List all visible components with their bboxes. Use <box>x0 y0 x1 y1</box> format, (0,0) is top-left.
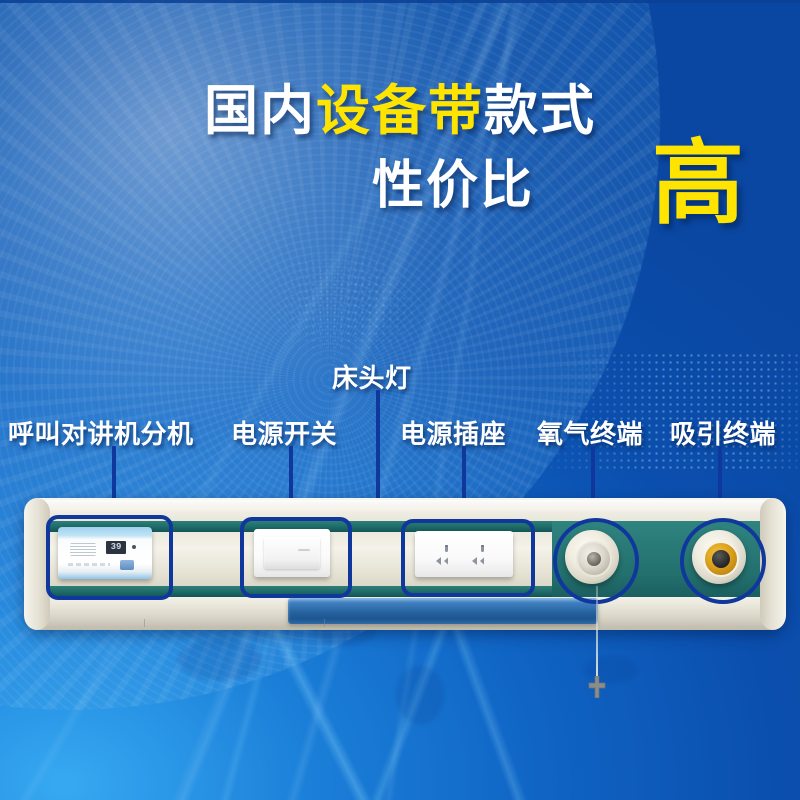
headline-part-1: 国内 <box>204 81 316 141</box>
halftone-dots-left <box>268 246 428 366</box>
highlight-frame-intercom <box>46 515 173 600</box>
halftone-dots-right <box>548 352 800 472</box>
headline-part-3: 款式 <box>484 81 596 141</box>
callout-label-power-socket: 电源插座 <box>400 414 506 451</box>
callout-label-power-switch: 电源开关 <box>231 414 337 451</box>
callout-label-oxygen: 氧气终端 <box>537 414 643 451</box>
cord-connector-icon <box>587 676 607 698</box>
bed-lamp-diffuser[interactable] <box>288 598 598 624</box>
highlight-frame-power-socket <box>401 519 535 597</box>
page-title: 国内设备带款式 <box>0 84 800 138</box>
callout-label-bed-lamp: 床头灯 <box>332 358 412 395</box>
panel-seam-2 <box>324 619 325 627</box>
highlight-ring-suction <box>680 518 766 604</box>
callout-label-intercom: 呼叫对讲机分机 <box>8 414 194 451</box>
subtitle-text: 性价比 <box>372 160 534 212</box>
headline-highlight: 设备带 <box>316 81 484 141</box>
panel-seam-1 <box>144 619 145 627</box>
callout-label-suction: 吸引终端 <box>670 414 776 451</box>
poster-canvas: 国内设备带款式 性价比 高 呼叫对讲机分机 电源开关 床头灯 电源插座 氧气终端… <box>0 0 800 800</box>
subtitle-emphasis: 高 <box>652 138 744 230</box>
highlight-frame-power-switch <box>240 517 352 598</box>
device-top-highlight <box>30 500 780 512</box>
hanging-cord <box>596 586 598 682</box>
world-map-watermark <box>90 600 800 800</box>
top-edge-line <box>0 0 800 3</box>
